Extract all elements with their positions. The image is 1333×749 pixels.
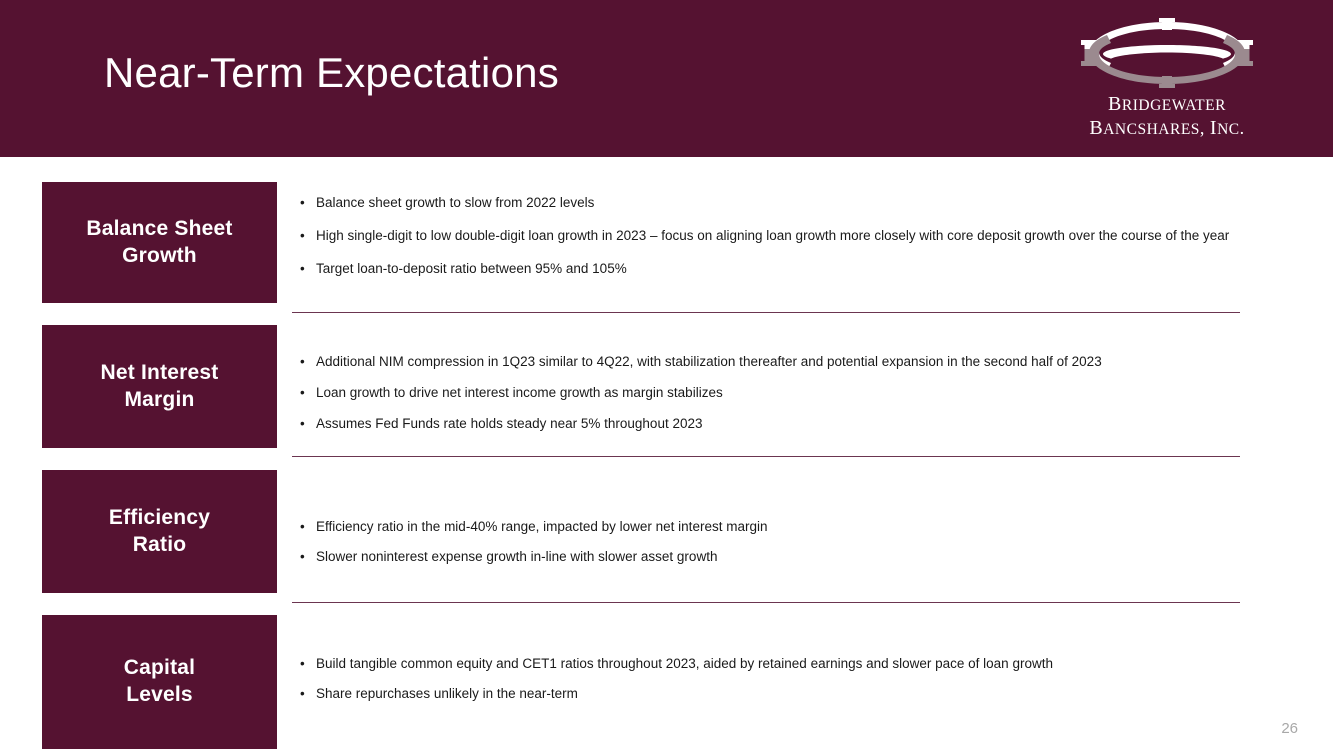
logo-wordmark-line-1: BRIDGEWATER [1047, 92, 1287, 116]
section-label-line-2: Growth [86, 243, 232, 270]
bullet-icon: • [300, 260, 316, 278]
section-label-line-2: Ratio [109, 532, 210, 559]
section-label-line-1: Capital [124, 655, 195, 682]
bullet-icon: • [300, 548, 316, 566]
bullet-list-balance-sheet-growth: • Balance sheet growth to slow from 2022… [300, 194, 1248, 277]
logo-wordmark-line-2: BANCSHARES, INC. [1047, 116, 1287, 140]
section-divider [292, 456, 1240, 457]
bullet-text: Share repurchases unlikely in the near-t… [316, 685, 1248, 703]
list-item: • High single-digit to low double-digit … [300, 227, 1248, 245]
company-logo: BRIDGEWATER BANCSHARES, INC. [1047, 16, 1287, 141]
section-label-line-1: Efficiency [109, 505, 210, 532]
list-item: • Assumes Fed Funds rate holds steady ne… [300, 415, 1248, 433]
list-item: • Additional NIM compression in 1Q23 sim… [300, 353, 1248, 371]
bullet-text: Target loan-to-deposit ratio between 95%… [316, 260, 1248, 278]
section-label-net-interest-margin: Net Interest Margin [42, 325, 277, 448]
list-item: • Slower noninterest expense growth in-l… [300, 548, 1248, 566]
bullet-list-capital-levels: • Build tangible common equity and CET1 … [300, 655, 1248, 703]
list-item: • Build tangible common equity and CET1 … [300, 655, 1248, 673]
section-label-efficiency-ratio: Efficiency Ratio [42, 470, 277, 593]
bullet-text: Assumes Fed Funds rate holds steady near… [316, 415, 1248, 433]
bullet-list-efficiency-ratio: • Efficiency ratio in the mid-40% range,… [300, 518, 1248, 566]
bullet-icon: • [300, 655, 316, 673]
section-label-capital-levels: Capital Levels [42, 615, 277, 749]
bullet-icon: • [300, 384, 316, 402]
section-label-line-2: Levels [124, 682, 195, 709]
bullet-text: Additional NIM compression in 1Q23 simil… [316, 353, 1248, 371]
section-label-line-2: Margin [101, 387, 219, 414]
page-number: 26 [1281, 720, 1298, 737]
section-label-balance-sheet-growth: Balance Sheet Growth [42, 182, 277, 303]
bullet-text: Efficiency ratio in the mid-40% range, i… [316, 518, 1248, 536]
bullet-icon: • [300, 227, 316, 245]
section-balance-sheet-growth: Balance Sheet Growth • Balance sheet gro… [0, 157, 1333, 325]
bullet-text: High single-digit to low double-digit lo… [316, 227, 1248, 245]
section-divider [292, 602, 1240, 603]
bullet-icon: • [300, 353, 316, 371]
list-item: • Loan growth to drive net interest inco… [300, 384, 1248, 402]
bullet-list-net-interest-margin: • Additional NIM compression in 1Q23 sim… [300, 353, 1248, 432]
bullet-icon: • [300, 518, 316, 536]
list-item: • Efficiency ratio in the mid-40% range,… [300, 518, 1248, 536]
bullet-text: Loan growth to drive net interest income… [316, 384, 1248, 402]
section-divider [292, 312, 1240, 313]
page-title: Near-Term Expectations [104, 50, 559, 96]
section-label-line-1: Net Interest [101, 360, 219, 387]
bullet-text: Build tangible common equity and CET1 ra… [316, 655, 1248, 673]
bullet-icon: • [300, 415, 316, 433]
section-capital-levels: Capital Levels • Build tangible common e… [0, 615, 1333, 749]
bullet-icon: • [300, 685, 316, 703]
bullet-icon: • [300, 194, 316, 212]
section-efficiency-ratio: Efficiency Ratio • Efficiency ratio in t… [0, 470, 1333, 615]
slide-body: Balance Sheet Growth • Balance sheet gro… [0, 157, 1333, 749]
section-label-line-1: Balance Sheet [86, 216, 232, 243]
list-item: • Target loan-to-deposit ratio between 9… [300, 260, 1248, 278]
bullet-text: Balance sheet growth to slow from 2022 l… [316, 194, 1248, 212]
list-item: • Balance sheet growth to slow from 2022… [300, 194, 1248, 212]
list-item: • Share repurchases unlikely in the near… [300, 685, 1248, 703]
bullet-text: Slower noninterest expense growth in-lin… [316, 548, 1248, 566]
section-net-interest-margin: Net Interest Margin • Additional NIM com… [0, 325, 1333, 470]
bridgewater-bridge-icon [1047, 16, 1287, 90]
